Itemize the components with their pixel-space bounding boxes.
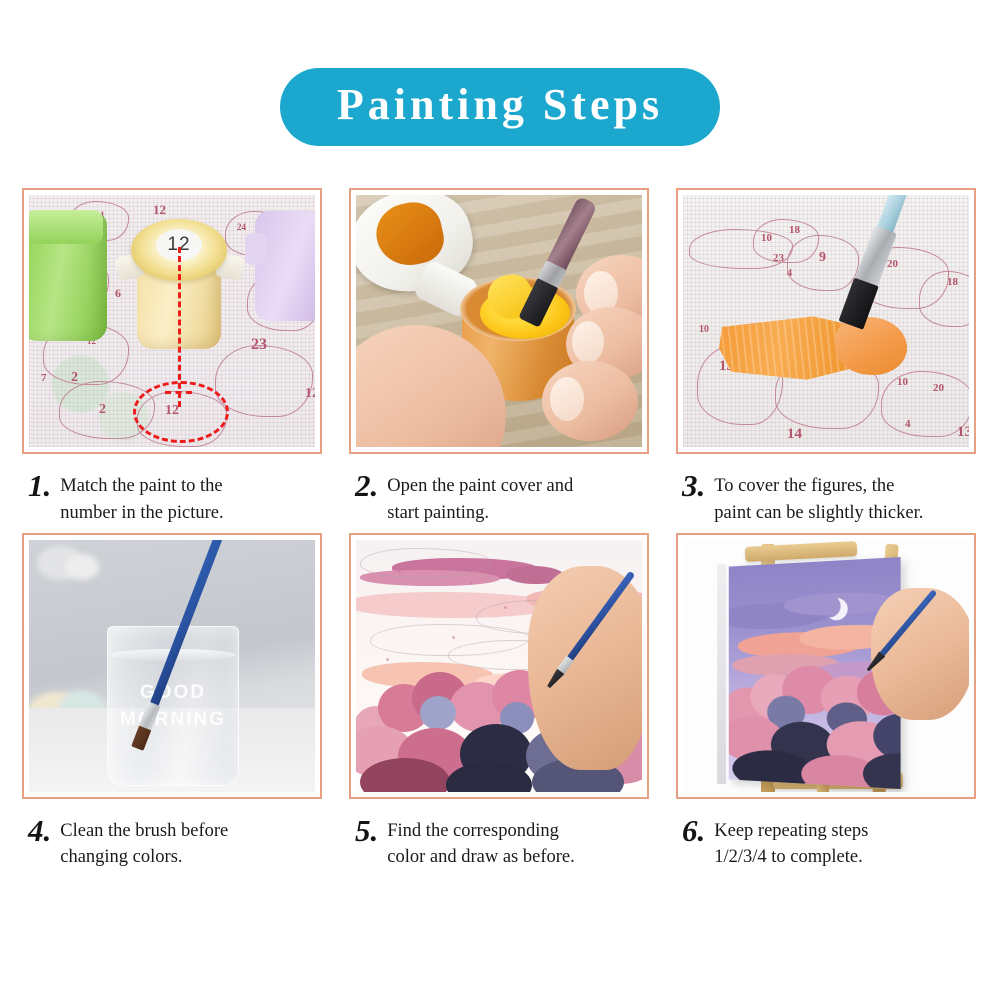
paint-by-number-outline xyxy=(360,548,490,578)
highlighted-canvas-number: 12 xyxy=(165,403,179,419)
finger xyxy=(542,361,638,441)
step-text-4: Clean the brush before changing colors. xyxy=(60,813,228,872)
glass-text-line-2: MORNING xyxy=(108,706,238,734)
canvas-number: 10 xyxy=(897,377,908,388)
photo-brush-applying-orange-paint: 10 18 23 4 9 20 13 14 10 18 20 10 20 4 1… xyxy=(683,195,969,447)
step-number-6: 6. xyxy=(682,813,705,846)
photo-hand-painting-blossom-canvas xyxy=(356,540,642,792)
photo-brush-rinsing-in-glass: GOOD MORNING xyxy=(29,540,315,792)
fingernail xyxy=(550,377,584,421)
step-card-5: 5. Find the corresponding color and draw… xyxy=(349,533,649,872)
canvas-side-edge xyxy=(717,563,726,783)
photo-frame-1: 12 24 2 7 6 5 12 2 7 2 23 24 23 12 24 xyxy=(22,188,322,454)
number-dot xyxy=(452,636,455,639)
step-caption-1: 1. Match the paint to the number in the … xyxy=(22,454,322,527)
canvas-number: 10 xyxy=(699,325,709,335)
step-text-5: Find the corresponding color and draw as… xyxy=(387,813,574,872)
photo-hand-holding-open-paint-pot xyxy=(356,195,642,447)
step-number-5: 5. xyxy=(355,813,378,846)
step-card-4: GOOD MORNING 4. Clean the brush before c… xyxy=(22,533,322,872)
step-card-1: 12 24 2 7 6 5 12 2 7 2 23 24 23 12 24 xyxy=(22,188,322,527)
brush-bristles xyxy=(131,725,151,750)
step-text-6: Keep repeating steps 1/2/3/4 to complete… xyxy=(714,813,868,872)
canvas-number: 7 xyxy=(41,373,47,384)
page-title: Painting Steps xyxy=(332,82,668,128)
step-number-1: 1. xyxy=(28,468,51,501)
step-caption-3: 3. To cover the figures, the paint can b… xyxy=(676,454,976,527)
photo-frame-6 xyxy=(676,533,976,799)
painting-steps-infographic: Painting Steps 12 24 2 xyxy=(0,0,1000,1000)
photo-frame-2 xyxy=(349,188,649,454)
step-text-1: Match the paint to the number in the pic… xyxy=(60,468,223,527)
canvas-number: 10 xyxy=(761,233,772,244)
canvas-shape xyxy=(919,271,969,327)
canvas-number: 24 xyxy=(237,223,246,232)
step-card-2: 2. Open the paint cover and start painti… xyxy=(349,188,649,527)
fingernail xyxy=(572,321,604,363)
step-caption-4: 4. Clean the brush before changing color… xyxy=(22,799,322,872)
crescent-moon xyxy=(819,594,841,617)
photo-paint-pot-on-numbered-canvas: 12 24 2 7 6 5 12 2 7 2 23 24 23 12 24 xyxy=(29,195,315,447)
canvas-number: 23 xyxy=(251,337,267,353)
step-card-3: 10 18 23 4 9 20 13 14 10 18 20 10 20 4 1… xyxy=(676,188,976,527)
canvas-number: 4 xyxy=(787,269,792,279)
canvas-shape xyxy=(881,371,969,437)
canvas-number: 12 xyxy=(305,387,315,401)
canvas-number: 2 xyxy=(71,371,78,385)
number-dot xyxy=(398,570,401,573)
background-object xyxy=(65,554,99,580)
photo-frame-5 xyxy=(349,533,649,799)
canvas-number: 14 xyxy=(787,427,802,442)
canvas-number: 20 xyxy=(933,383,944,394)
canvas-number: 18 xyxy=(789,225,800,236)
number-dot xyxy=(504,606,507,609)
step-card-6: 6. Keep repeating steps 1/2/3/4 to compl… xyxy=(676,533,976,872)
step-caption-2: 2. Open the paint cover and start painti… xyxy=(349,454,649,527)
photo-frame-4: GOOD MORNING xyxy=(22,533,322,799)
canvas-number: 6 xyxy=(115,287,121,299)
brush-bristles xyxy=(839,278,879,330)
canvas-number: 18 xyxy=(947,277,958,288)
step-number-4: 4. xyxy=(28,813,51,846)
step-caption-5: 5. Find the corresponding color and draw… xyxy=(349,799,649,872)
step-caption-6: 6. Keep repeating steps 1/2/3/4 to compl… xyxy=(676,799,976,872)
red-dashed-highlight-ellipse xyxy=(133,381,229,443)
canvas-number: 2 xyxy=(99,403,106,417)
canvas-number: 13 xyxy=(957,425,969,440)
green-paint-jar xyxy=(29,213,107,341)
step-number-3: 3. xyxy=(682,468,705,501)
canvas-number: 23 xyxy=(773,253,784,264)
photo-finished-painting-on-easel xyxy=(683,540,969,792)
photo-frame-3: 10 18 23 4 9 20 13 14 10 18 20 10 20 4 1… xyxy=(676,188,976,454)
blossom-shadow xyxy=(420,696,456,730)
title-banner: Painting Steps xyxy=(0,68,1000,146)
steps-grid: 12 24 2 7 6 5 12 2 7 2 23 24 23 12 24 xyxy=(22,188,978,871)
step-number-2: 2. xyxy=(355,468,378,501)
canvas-number: 9 xyxy=(819,251,826,265)
number-dot xyxy=(470,582,473,585)
title-pill: Painting Steps xyxy=(280,68,720,146)
purple-paint-jar xyxy=(255,211,315,321)
canvas-number: 12 xyxy=(153,203,166,216)
canvas-shape xyxy=(215,345,313,417)
number-dot xyxy=(386,658,389,661)
step-text-3: To cover the figures, the paint can be s… xyxy=(714,468,923,527)
canvas-number: 4 xyxy=(905,419,911,430)
step-text-2: Open the paint cover and start painting. xyxy=(387,468,573,527)
